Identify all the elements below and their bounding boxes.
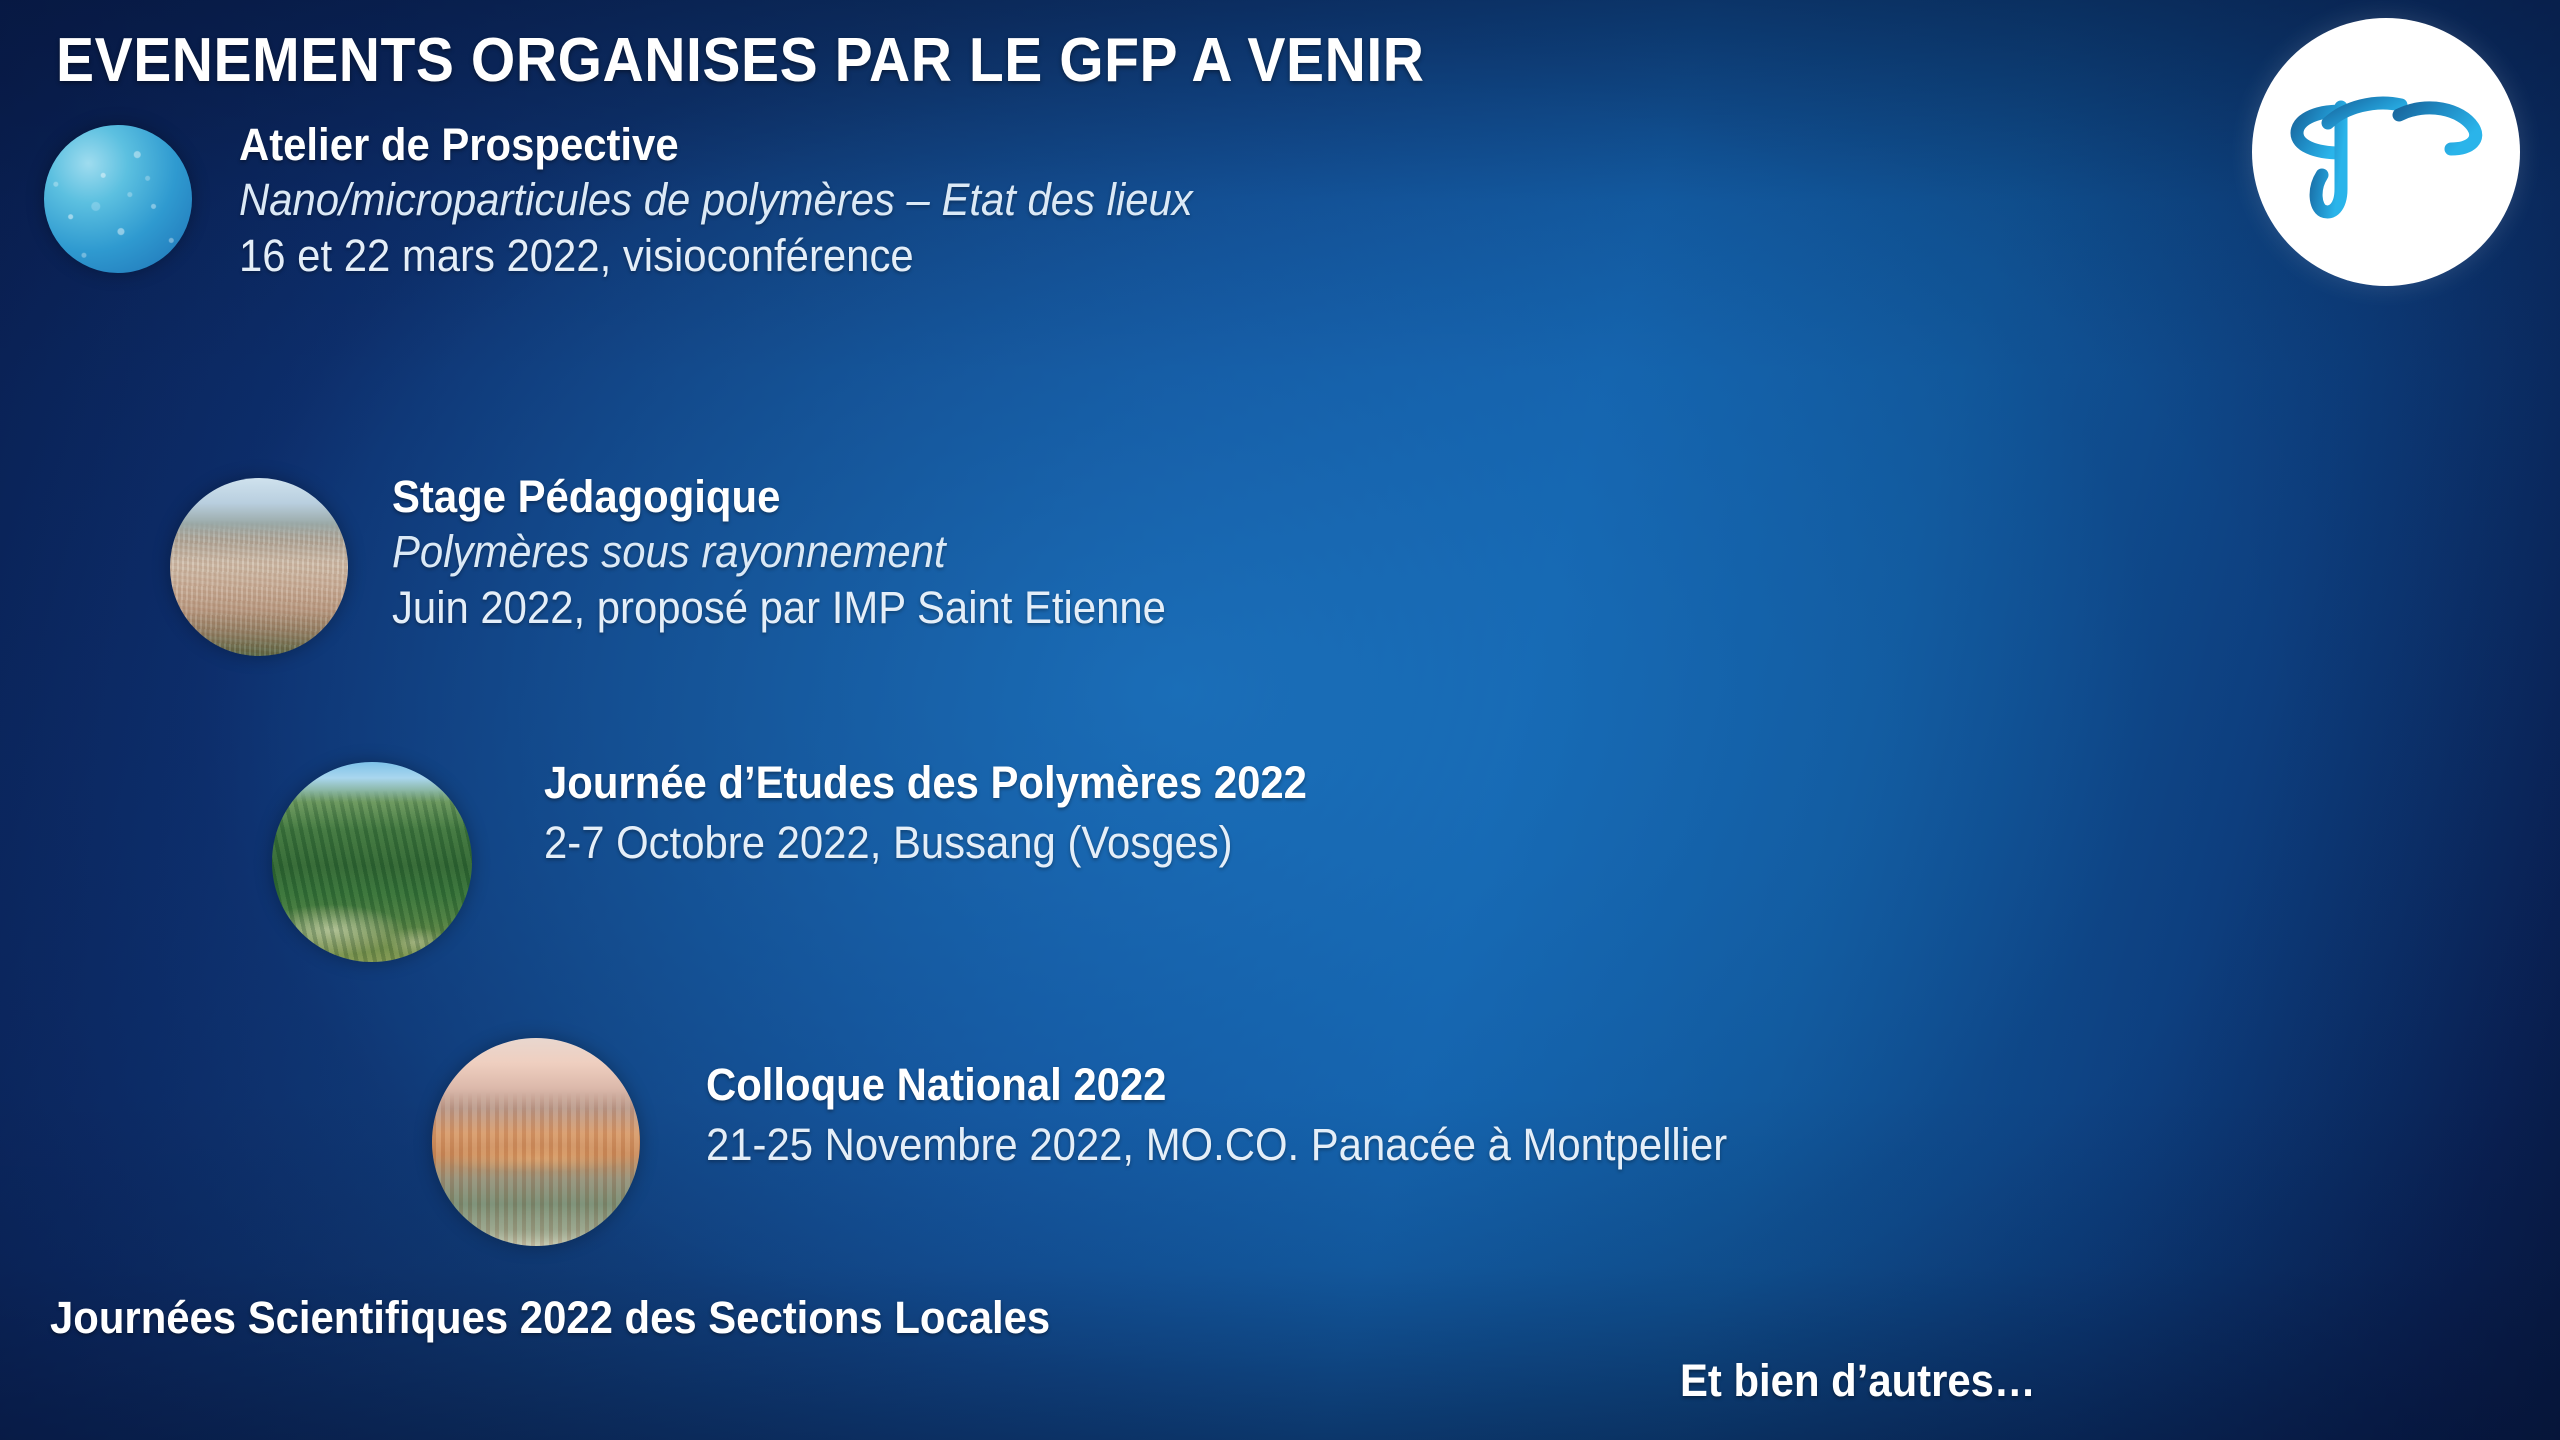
slide-canvas: EVENEMENTS ORGANISES PAR LE GFP A VENIR	[0, 0, 2560, 1440]
event-text-block: Journée d’Etudes des Polymères 2022 2-7 …	[544, 756, 1364, 871]
event-item: Colloque National 2022 21-25 Novembre 20…	[432, 1030, 1804, 1246]
event-name: Colloque National 2022	[706, 1058, 1727, 1113]
event-photo-microparticles	[44, 125, 192, 273]
photo-texture	[432, 1038, 640, 1246]
event-name: Atelier de Prospective	[239, 118, 1193, 173]
photo-texture	[170, 478, 348, 656]
slide-title: EVENEMENTS ORGANISES PAR LE GFP A VENIR	[56, 28, 2006, 95]
event-name: Stage Pédagogique	[392, 470, 1166, 525]
event-date: 16 et 22 mars 2022, visioconférence	[239, 228, 1193, 284]
event-name: Journée d’Etudes des Polymères 2022	[544, 756, 1307, 811]
gfp-logo-mark	[2283, 77, 2489, 227]
event-photo-montpellier	[432, 1038, 640, 1246]
event-photo-saint-etienne	[170, 478, 348, 656]
footer-sections-line: Journées Scientifiques 2022 des Sections…	[50, 1292, 1050, 1344]
photo-texture	[272, 762, 472, 962]
event-text-block: Atelier de Prospective Nano/microparticu…	[239, 118, 1265, 284]
photo-texture	[44, 125, 192, 273]
footer-more-line: Et bien d’autres…	[1680, 1355, 2036, 1407]
event-date: 2-7 Octobre 2022, Bussang (Vosges)	[544, 815, 1307, 871]
event-photo-bussang	[272, 762, 472, 962]
event-text-block: Colloque National 2022 21-25 Novembre 20…	[706, 1058, 1804, 1173]
event-text-block: Stage Pédagogique Polymères sous rayonne…	[392, 470, 1224, 636]
event-date: 21-25 Novembre 2022, MO.CO. Panacée à Mo…	[706, 1117, 1727, 1173]
event-item: Atelier de Prospective Nano/microparticu…	[44, 120, 1265, 284]
event-item: Journée d’Etudes des Polymères 2022 2-7 …	[272, 752, 1364, 962]
gfp-logo	[2252, 18, 2520, 286]
event-subtitle: Nano/microparticules de polymères – Etat…	[239, 173, 1193, 228]
event-date: Juin 2022, proposé par IMP Saint Etienne	[392, 580, 1166, 636]
event-subtitle: Polymères sous rayonnement	[392, 525, 1166, 580]
event-item: Stage Pédagogique Polymères sous rayonne…	[170, 472, 1224, 656]
